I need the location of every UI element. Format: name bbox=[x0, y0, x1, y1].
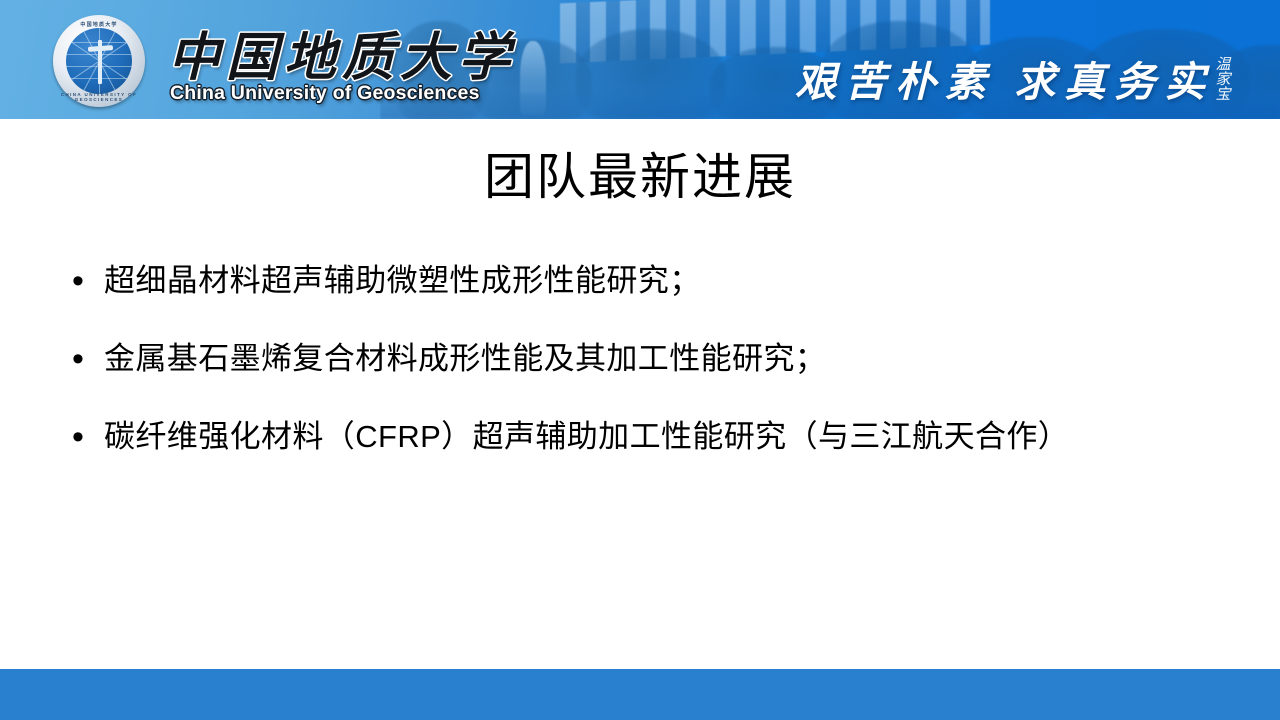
page-title: 团队最新进展 bbox=[0, 147, 1280, 207]
university-name-english: China University of Geosciences bbox=[170, 82, 480, 105]
presentation-slide: 中国地质大学 CHINA UNIVERSITY OF GEOSCIENCES 中… bbox=[0, 0, 1280, 720]
list-item-text: 超细晶材料超声辅助微塑性成形性能研究； bbox=[104, 258, 1246, 304]
list-item: • 金属基石墨烯复合材料成形性能及其加工性能研究； bbox=[66, 336, 1246, 414]
bullet-list: • 超细晶材料超声辅助微塑性成形性能研究； • 金属基石墨烯复合材料成形性能及其… bbox=[66, 258, 1246, 492]
motto-signature: 温家宝 bbox=[1212, 58, 1234, 103]
emblem-ring-text-top: 中国地质大学 bbox=[47, 21, 151, 28]
bullet-marker-icon: • bbox=[66, 258, 104, 304]
emblem-globe-icon bbox=[66, 28, 132, 94]
list-item-text: 碳纤维强化材料（CFRP）超声辅助加工性能研究（与三江航天合作） bbox=[104, 414, 1246, 460]
slide-header-banner: 中国地质大学 CHINA UNIVERSITY OF GEOSCIENCES 中… bbox=[0, 0, 1280, 119]
university-motto: 艰苦朴素 求真务实 bbox=[795, 48, 1214, 108]
list-item: • 碳纤维强化材料（CFRP）超声辅助加工性能研究（与三江航天合作） bbox=[66, 414, 1246, 492]
list-item: • 超细晶材料超声辅助微塑性成形性能研究； bbox=[66, 258, 1246, 336]
slide-footer-bar bbox=[0, 669, 1280, 720]
university-emblem-icon: 中国地质大学 CHINA UNIVERSITY OF GEOSCIENCES bbox=[47, 14, 151, 108]
emblem-ring-text-bottom: CHINA UNIVERSITY OF GEOSCIENCES bbox=[47, 92, 151, 102]
list-item-text: 金属基石墨烯复合材料成形性能及其加工性能研究； bbox=[104, 336, 1246, 382]
emblem-hammer-icon bbox=[90, 40, 110, 84]
university-name-chinese: 中国地质大学 bbox=[168, 15, 516, 90]
bullet-marker-icon: • bbox=[66, 336, 104, 382]
bullet-marker-icon: • bbox=[66, 414, 104, 460]
